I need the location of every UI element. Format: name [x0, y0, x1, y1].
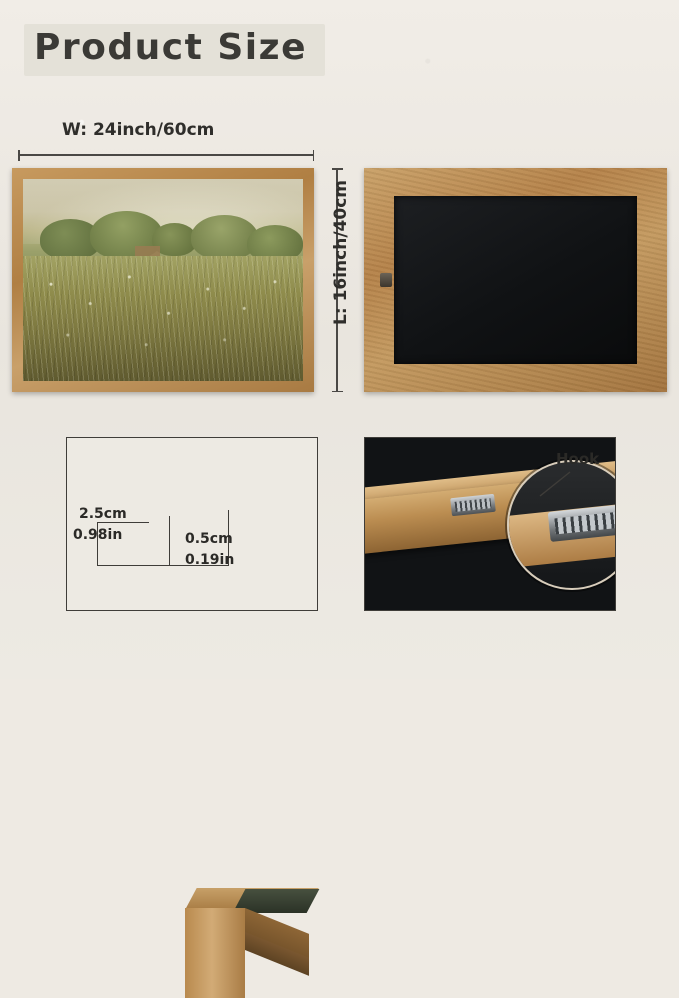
page-title: Product Size	[34, 30, 307, 66]
thickness-inch-label: 0.19in	[185, 552, 234, 568]
black-board-surface	[394, 196, 637, 364]
depth-cm-label: 2.5cm	[79, 506, 127, 522]
framed-artwork-front-view	[12, 168, 314, 392]
depth-guide-line-top	[97, 522, 149, 523]
page-title-banner: Product Size	[24, 24, 325, 76]
height-dimension-label: L: 16inch/40cm	[331, 180, 351, 325]
landscape-painting-image	[23, 179, 303, 381]
thickness-cm-label: 0.5cm	[185, 531, 233, 547]
product-size-infographic: Product Size W: 24inch/60cm	[0, 0, 679, 679]
hanging-clip-icon	[380, 273, 392, 287]
hook-label: Hook	[556, 450, 599, 468]
depth-inch-label: 0.98in	[73, 527, 122, 543]
width-dimension-label: W: 24inch/60cm	[62, 120, 214, 140]
frame-corner-illustration	[185, 888, 307, 998]
width-dimension-arrow-icon	[18, 150, 314, 160]
thickness-detail-panel: 2.5cm 0.98in 0.5cm 0.19in	[66, 437, 318, 611]
framed-board-back-view	[364, 168, 667, 392]
hook-leader-line	[530, 470, 572, 500]
artwork-canvas	[23, 179, 303, 381]
thickness-guide-line-left	[169, 516, 170, 566]
depth-guide-line-bottom	[97, 565, 169, 566]
